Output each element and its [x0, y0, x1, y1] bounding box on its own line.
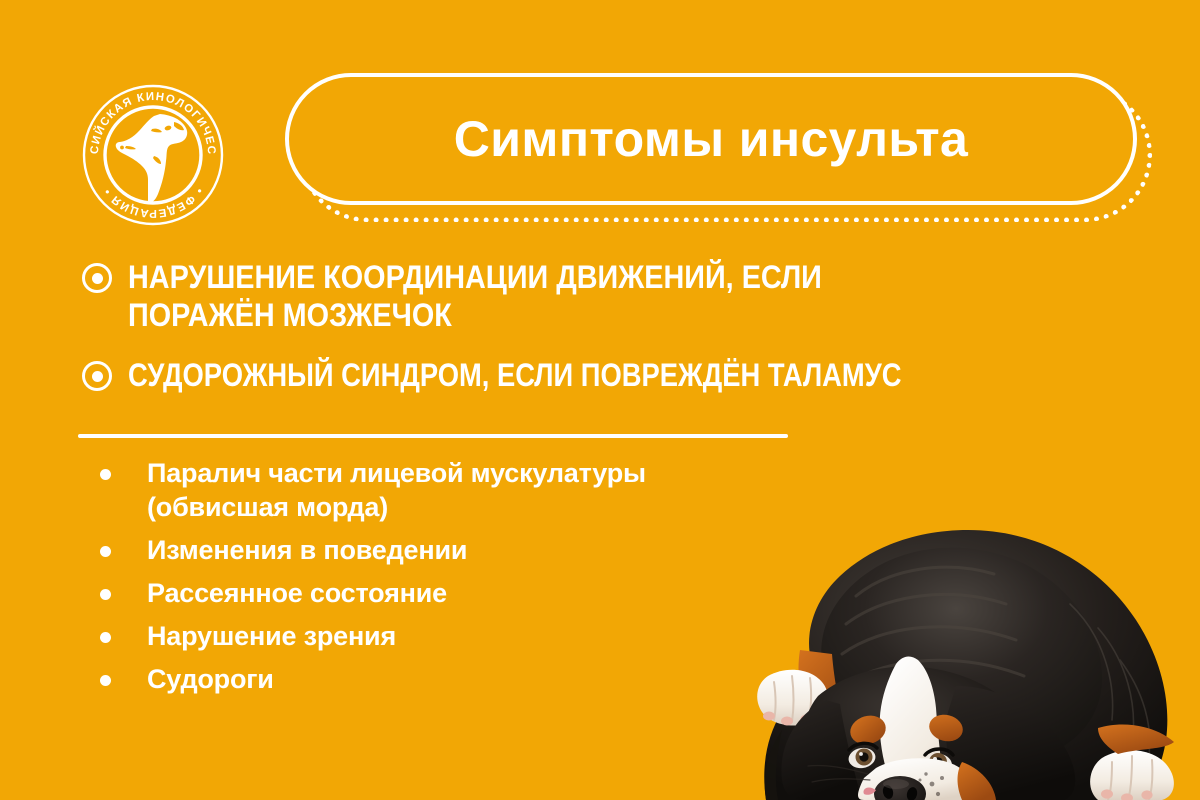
list-item: НАРУШЕНИЕ КООРДИНАЦИИ ДВИЖЕНИЙ, ЕСЛИ ПОР… [82, 258, 1142, 334]
dot-bullet-icon [100, 632, 111, 643]
section-divider [78, 434, 788, 438]
secondary-symptom-text: Судороги [147, 662, 274, 696]
dot-bullet-icon [100, 546, 111, 557]
secondary-symptom-text: Изменения в поведении [147, 533, 467, 567]
ring-bullet-icon [82, 361, 112, 391]
page-title: Симптомы инсульта [285, 73, 1137, 205]
list-item: Изменения в поведении [100, 533, 860, 567]
primary-symptom-text: СУДОРОЖНЫЙ СИНДРОМ, ЕСЛИ ПОВРЕЖДЁН ТАЛАМ… [128, 356, 901, 394]
dot-bullet-icon [100, 469, 111, 480]
dot-bullet-icon [100, 675, 111, 686]
rkf-logo: РОССИЙСКАЯ КИНОЛОГИЧЕСКАЯ • ФЕДЕРАЦИЯ • [82, 84, 224, 226]
primary-symptom-list: НАРУШЕНИЕ КООРДИНАЦИИ ДВИЖЕНИЙ, ЕСЛИ ПОР… [82, 258, 1142, 416]
secondary-symptom-list: Паралич части лицевой мускулатуры (обвис… [100, 456, 860, 705]
list-item: Паралич части лицевой мускулатуры (обвис… [100, 456, 860, 524]
ring-bullet-icon [82, 263, 112, 293]
title-banner: Симптомы инсульта [272, 62, 1152, 234]
poster-canvas: РОССИЙСКАЯ КИНОЛОГИЧЕСКАЯ • ФЕДЕРАЦИЯ • [0, 0, 1200, 800]
dot-bullet-icon [100, 589, 111, 600]
list-item: СУДОРОЖНЫЙ СИНДРОМ, ЕСЛИ ПОВРЕЖДЁН ТАЛАМ… [82, 356, 1142, 394]
secondary-symptom-text: Нарушение зрения [147, 619, 396, 653]
secondary-symptom-text: Паралич части лицевой мускулатуры (обвис… [147, 456, 646, 524]
list-item: Судороги [100, 662, 860, 696]
list-item: Рассеянное состояние [100, 576, 860, 610]
list-item: Нарушение зрения [100, 619, 860, 653]
secondary-symptom-text: Рассеянное состояние [147, 576, 447, 610]
primary-symptom-text: НАРУШЕНИЕ КООРДИНАЦИИ ДВИЖЕНИЙ, ЕСЛИ ПОР… [128, 258, 822, 334]
